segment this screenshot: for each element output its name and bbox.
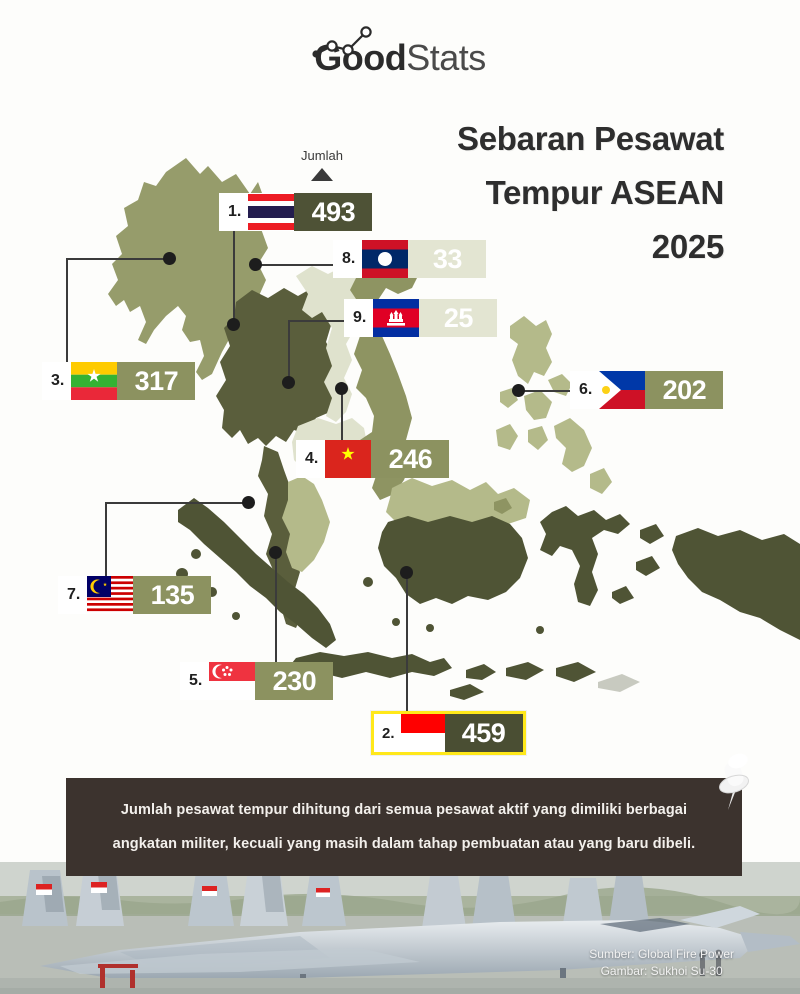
value-malaysia: 135: [133, 576, 211, 614]
leader-line-myanmar: [66, 258, 172, 260]
map-country-indonesia-papua: [672, 528, 800, 640]
leader-line-malaysia-v: [105, 502, 107, 584]
leader-line-thailand: [233, 227, 235, 325]
rank-thailand: 1.: [219, 193, 248, 231]
credit-block: Sumber: Global Fire Power Gambar: Sukhoi…: [589, 946, 734, 980]
note-line-1: Jumlah pesawat tempur dihitung dari semu…: [113, 793, 696, 827]
leader-line-vietnam: [341, 388, 343, 440]
value-myanmar: 317: [117, 362, 195, 400]
brand-logo: GoodStats: [0, 30, 800, 86]
map-country-malaysia-peninsula: [282, 476, 330, 572]
map-dot-indonesia: [400, 566, 413, 579]
value-cambodia: 25: [419, 299, 497, 337]
vietnam-flag: [325, 440, 371, 478]
rank-philippines: 6.: [570, 371, 599, 409]
note-inner: Jumlah pesawat tempur dihitung dari semu…: [75, 793, 734, 861]
map-dot-thailand: [227, 318, 240, 331]
cambodia-flag: [373, 299, 419, 337]
rank-singapore: 5.: [180, 662, 209, 700]
title-line-3: 2025: [304, 220, 724, 274]
myanmar-flag: [71, 362, 117, 400]
note-box: Jumlah pesawat tempur dihitung dari semu…: [66, 778, 742, 876]
indonesia-flag: [401, 714, 445, 752]
map-dot-laos: [249, 258, 262, 271]
logo-stats-text: Stats: [406, 37, 486, 78]
map-country-indonesia-nusa-tenggara: [450, 662, 596, 700]
label-cambodia[interactable]: 9. 25: [344, 299, 497, 337]
leader-line-myanmar-v: [66, 258, 68, 378]
rank-vietnam: 4.: [296, 440, 325, 478]
map-country-indonesia-maluku: [612, 524, 664, 604]
philippines-flag: [599, 371, 645, 409]
map-dot-vietnam: [335, 382, 348, 395]
pushpin-icon: [712, 752, 758, 814]
label-philippines[interactable]: 6. 202: [570, 371, 723, 409]
map-dot-philippines: [512, 384, 525, 397]
value-singapore: 230: [255, 662, 333, 700]
map-dot-cambodia: [282, 376, 295, 389]
leader-line-cambodia-v: [288, 320, 290, 382]
rank-malaysia: 7.: [58, 576, 87, 614]
singapore-flag: [209, 662, 255, 700]
legend-label: Jumlah: [287, 148, 357, 164]
malaysia-flag: [87, 576, 133, 614]
value-indonesia: 459: [445, 714, 523, 752]
logo-text: GoodStats: [314, 30, 486, 86]
map-dot-myanmar: [163, 252, 176, 265]
title-line-2: Tempur ASEAN: [304, 166, 724, 220]
label-indonesia[interactable]: 2. 459: [371, 711, 526, 755]
rank-cambodia: 9.: [344, 299, 373, 337]
infographic-root: GoodStats Sebaran Pesawat Tempur ASEAN 2…: [0, 0, 800, 994]
leader-line-indonesia: [406, 572, 408, 714]
chart-spark-icon: [310, 26, 374, 60]
rank-myanmar: 3.: [42, 362, 71, 400]
up-arrow-icon: [311, 168, 333, 181]
map-country-timor-leste: [598, 674, 640, 692]
leader-line-singapore: [275, 552, 277, 664]
label-myanmar[interactable]: 3. 317: [42, 362, 195, 400]
credit-source: Sumber: Global Fire Power: [589, 946, 734, 963]
legend-jumlah: Jumlah: [287, 148, 357, 181]
leader-line-philippines: [518, 390, 572, 392]
label-singapore[interactable]: 5. 230: [180, 662, 333, 700]
note-line-2: angkatan militer, kecuali yang masih dal…: [113, 827, 696, 861]
label-vietnam[interactable]: 4. 246: [296, 440, 449, 478]
label-malaysia[interactable]: 7. 135: [58, 576, 211, 614]
value-vietnam: 246: [371, 440, 449, 478]
leader-line-malaysia: [105, 502, 250, 504]
map-country-indonesia-kalimantan: [378, 516, 528, 604]
value-philippines: 202: [645, 371, 723, 409]
map-dot-singapore: [269, 546, 282, 559]
thailand-flag: [248, 193, 294, 231]
rank-indonesia: 2.: [374, 714, 401, 752]
title-line-1: Sebaran Pesawat: [304, 112, 724, 166]
credit-image: Gambar: Sukhoi Su-30: [589, 963, 734, 980]
map-dot-malaysia: [242, 496, 255, 509]
page-title: Sebaran Pesawat Tempur ASEAN 2025: [304, 112, 724, 274]
